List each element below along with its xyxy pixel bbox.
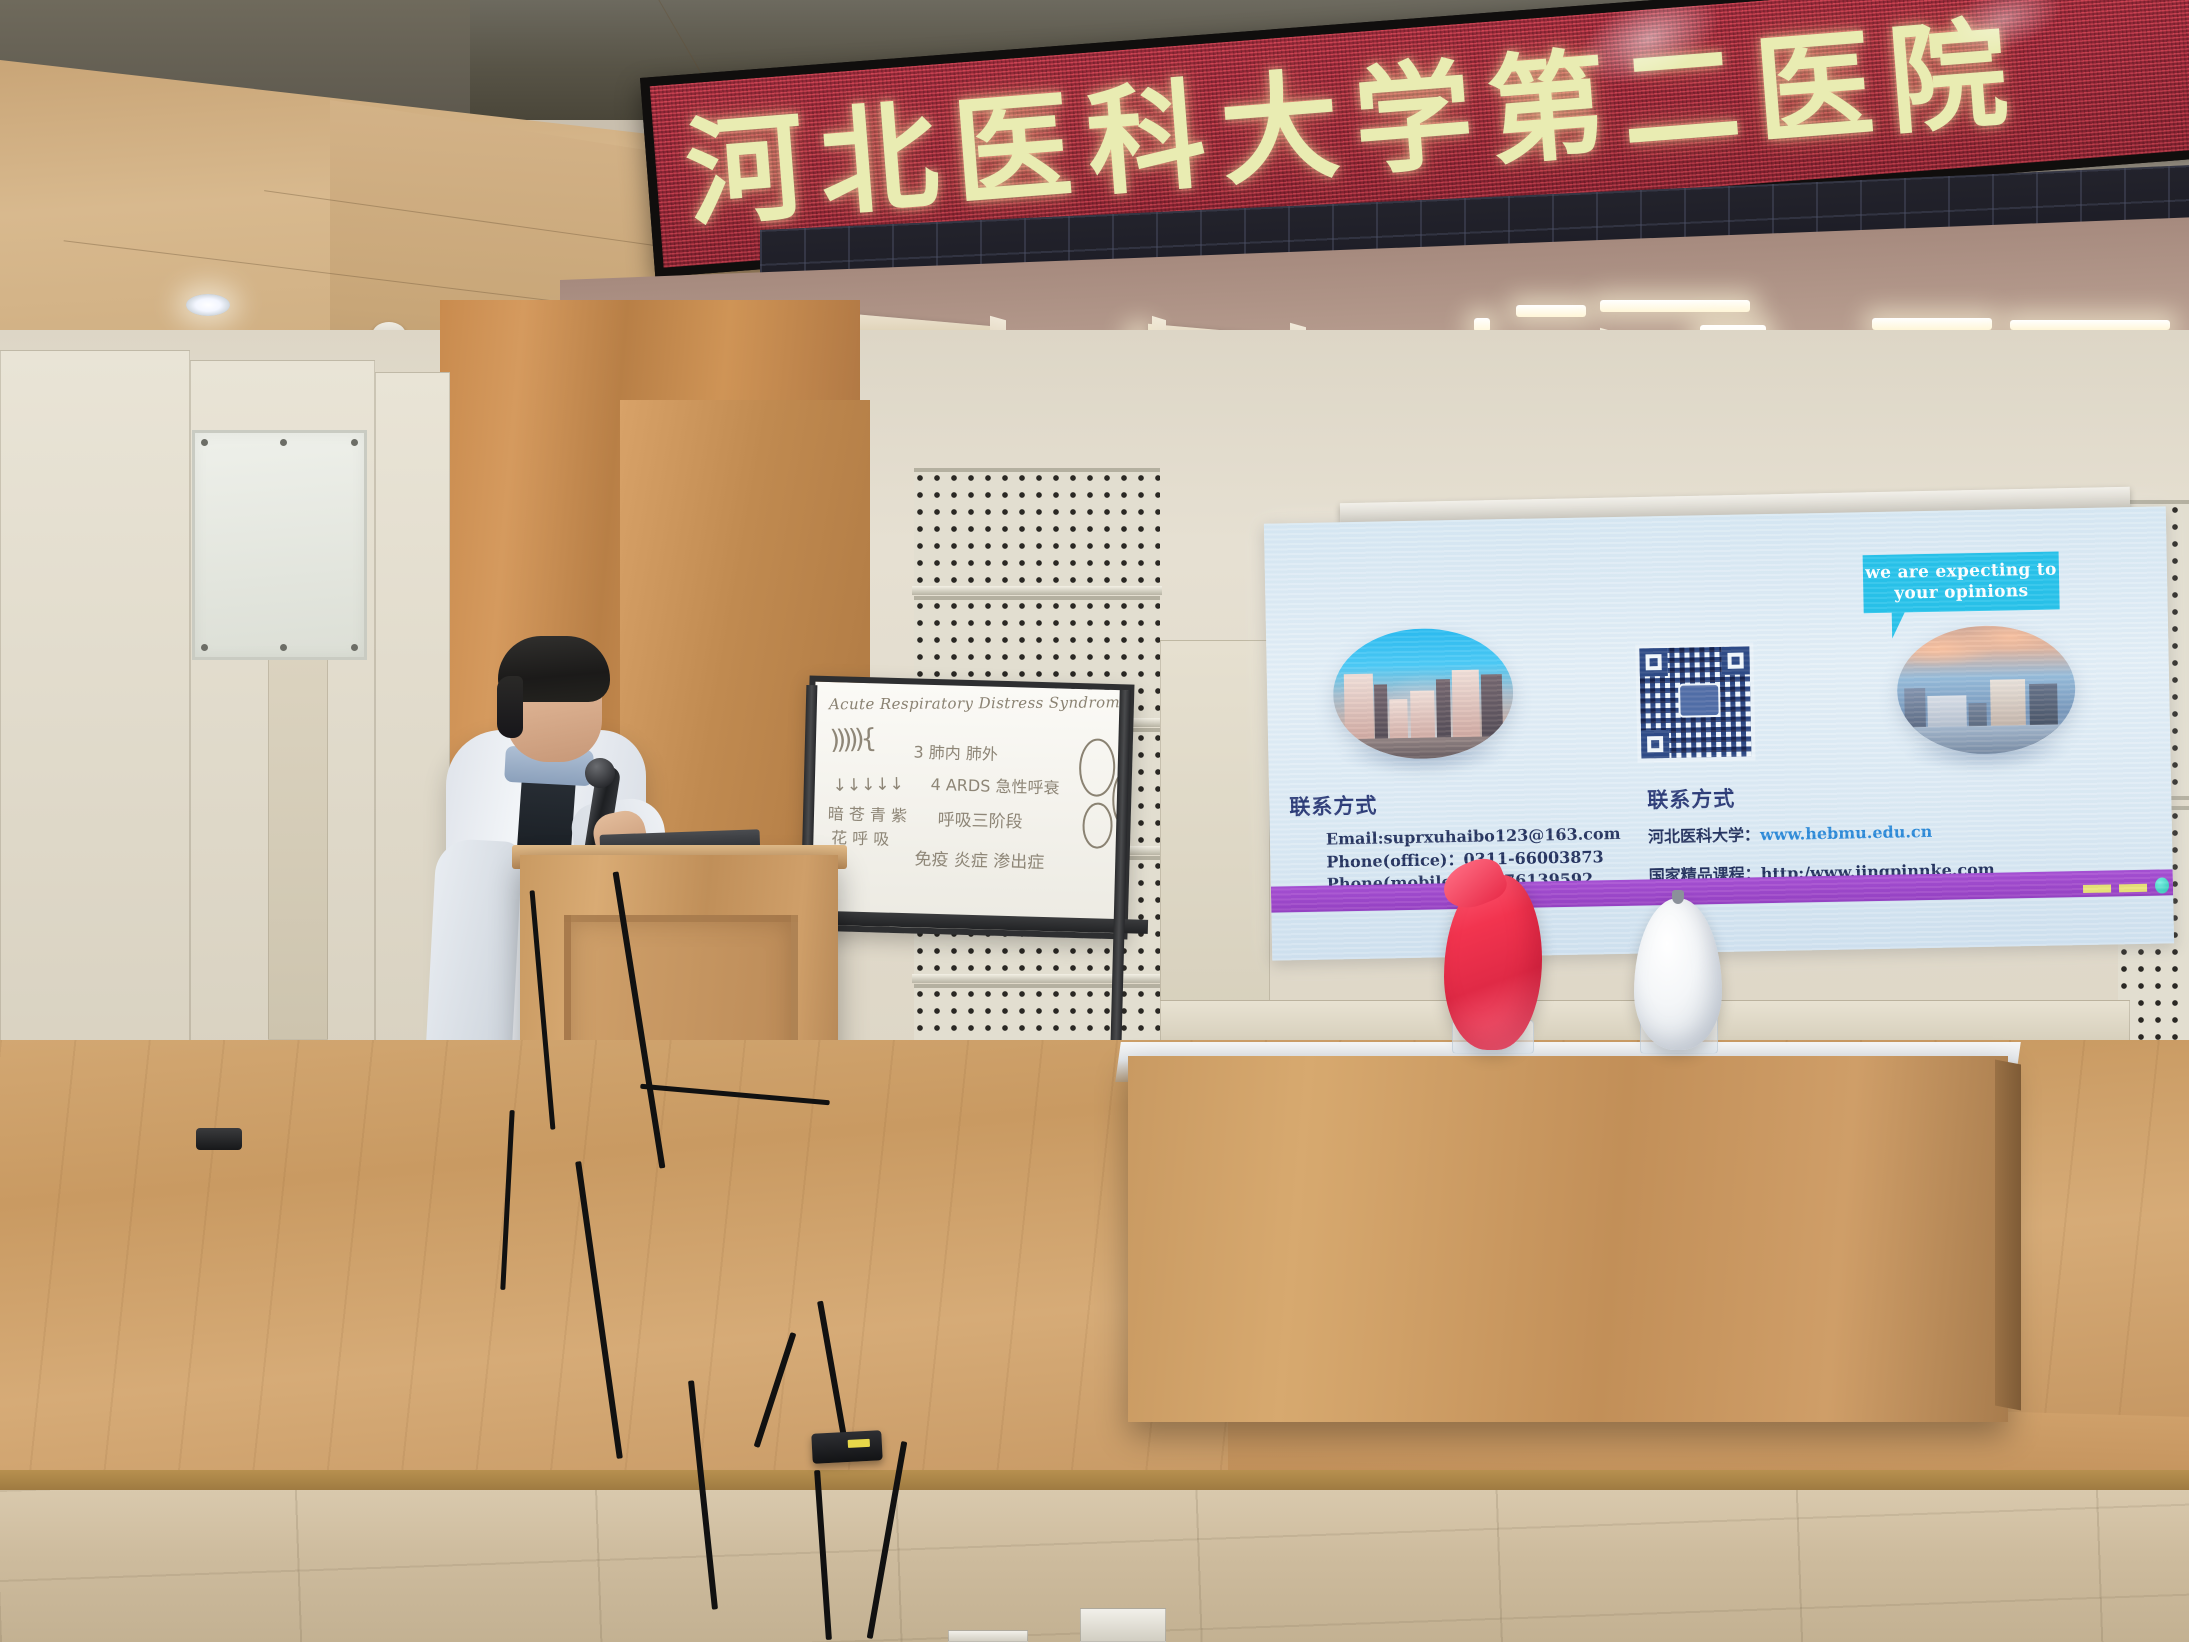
whiteboard-note: 免疫 炎症 渗出症: [914, 845, 1044, 874]
speech-bubble: we are expecting to your opinions: [1863, 551, 2060, 613]
truss-lamp: [1872, 318, 1992, 330]
slide-footer-dot: [2155, 877, 2169, 893]
acoustic-panel: [914, 468, 1160, 592]
contact-right-block: 联系方式 河北医科大学：www.hebmu.edu.cn 国家精品课程：http…: [1647, 778, 1995, 888]
whiteboard-title: Acute Respiratory Distress Syndrome: [829, 693, 1130, 713]
floor-speaker-box: [196, 1128, 242, 1150]
acoustic-panel-strip: [912, 974, 1162, 983]
ceiling-downlight: [186, 294, 230, 316]
hospital-campus-daytime-photo: [1332, 627, 1514, 760]
floor-paper: [948, 1630, 1028, 1642]
floor-paper: [1080, 1608, 1166, 1642]
demo-table: [1128, 1056, 2008, 1422]
truss-lamp: [1516, 305, 1586, 317]
qr-center-logo: [1678, 683, 1721, 718]
slide-footer-chip: [2119, 884, 2147, 893]
qr-code-modules: [1639, 646, 1751, 758]
wall-notice-frame: [192, 430, 367, 660]
qr-finder-pattern: [1641, 730, 1670, 759]
contact-left-heading: 联系方式: [1289, 785, 1620, 821]
projection-screen: we are expecting to your opinions 联系方式 E…: [1264, 506, 2174, 960]
truss-lamp: [1600, 300, 1750, 312]
wechat-qr-code[interactable]: [1635, 642, 1755, 762]
balloon-tip: [1672, 890, 1684, 904]
whiteboard-note: 呼吸三阶段: [937, 805, 1023, 832]
lecture-hall-photo: 河北医科大学第二医院: [0, 0, 2189, 1642]
university-website-row: 河北医科大学：www.hebmu.edu.cn: [1648, 820, 1994, 849]
whiteboard-bracket-marks: ))))){: [829, 724, 873, 756]
whiteboard-note: 3 肺内 肺外: [913, 738, 998, 764]
power-adapter-label: [848, 1439, 870, 1448]
wall-panel: [1160, 640, 1270, 1060]
hospital-campus-sunset-photo: [1896, 624, 2076, 755]
truss-lamp: [2010, 320, 2170, 330]
contact-right-heading: 联系方式: [1647, 778, 1994, 815]
speaker-hair-side: [497, 676, 523, 738]
whiteboard-note: 4 ARDS 急性呼衰: [930, 771, 1060, 799]
whiteboard-note: ↓↓↓↓↓: [832, 774, 904, 796]
qr-finder-pattern: [1721, 646, 1750, 675]
slide-footer-chip: [2083, 885, 2111, 894]
whiteboard-note: 暗 苍 青 紫: [827, 800, 907, 826]
table-side-panel: [1995, 1059, 2021, 1410]
university-label: 河北医科大学：: [1648, 825, 1760, 846]
acoustic-panel-strip: [912, 586, 1162, 595]
wall-panel: [0, 350, 190, 1110]
whiteboard: Acute Respiratory Distress Syndrome ))))…: [803, 676, 1135, 940]
speech-bubble-text: we are expecting to your opinions: [1865, 559, 2057, 605]
qr-finder-pattern: [1639, 648, 1668, 677]
power-adapter-brick: [811, 1430, 882, 1464]
university-url[interactable]: www.hebmu.edu.cn: [1760, 822, 1933, 844]
